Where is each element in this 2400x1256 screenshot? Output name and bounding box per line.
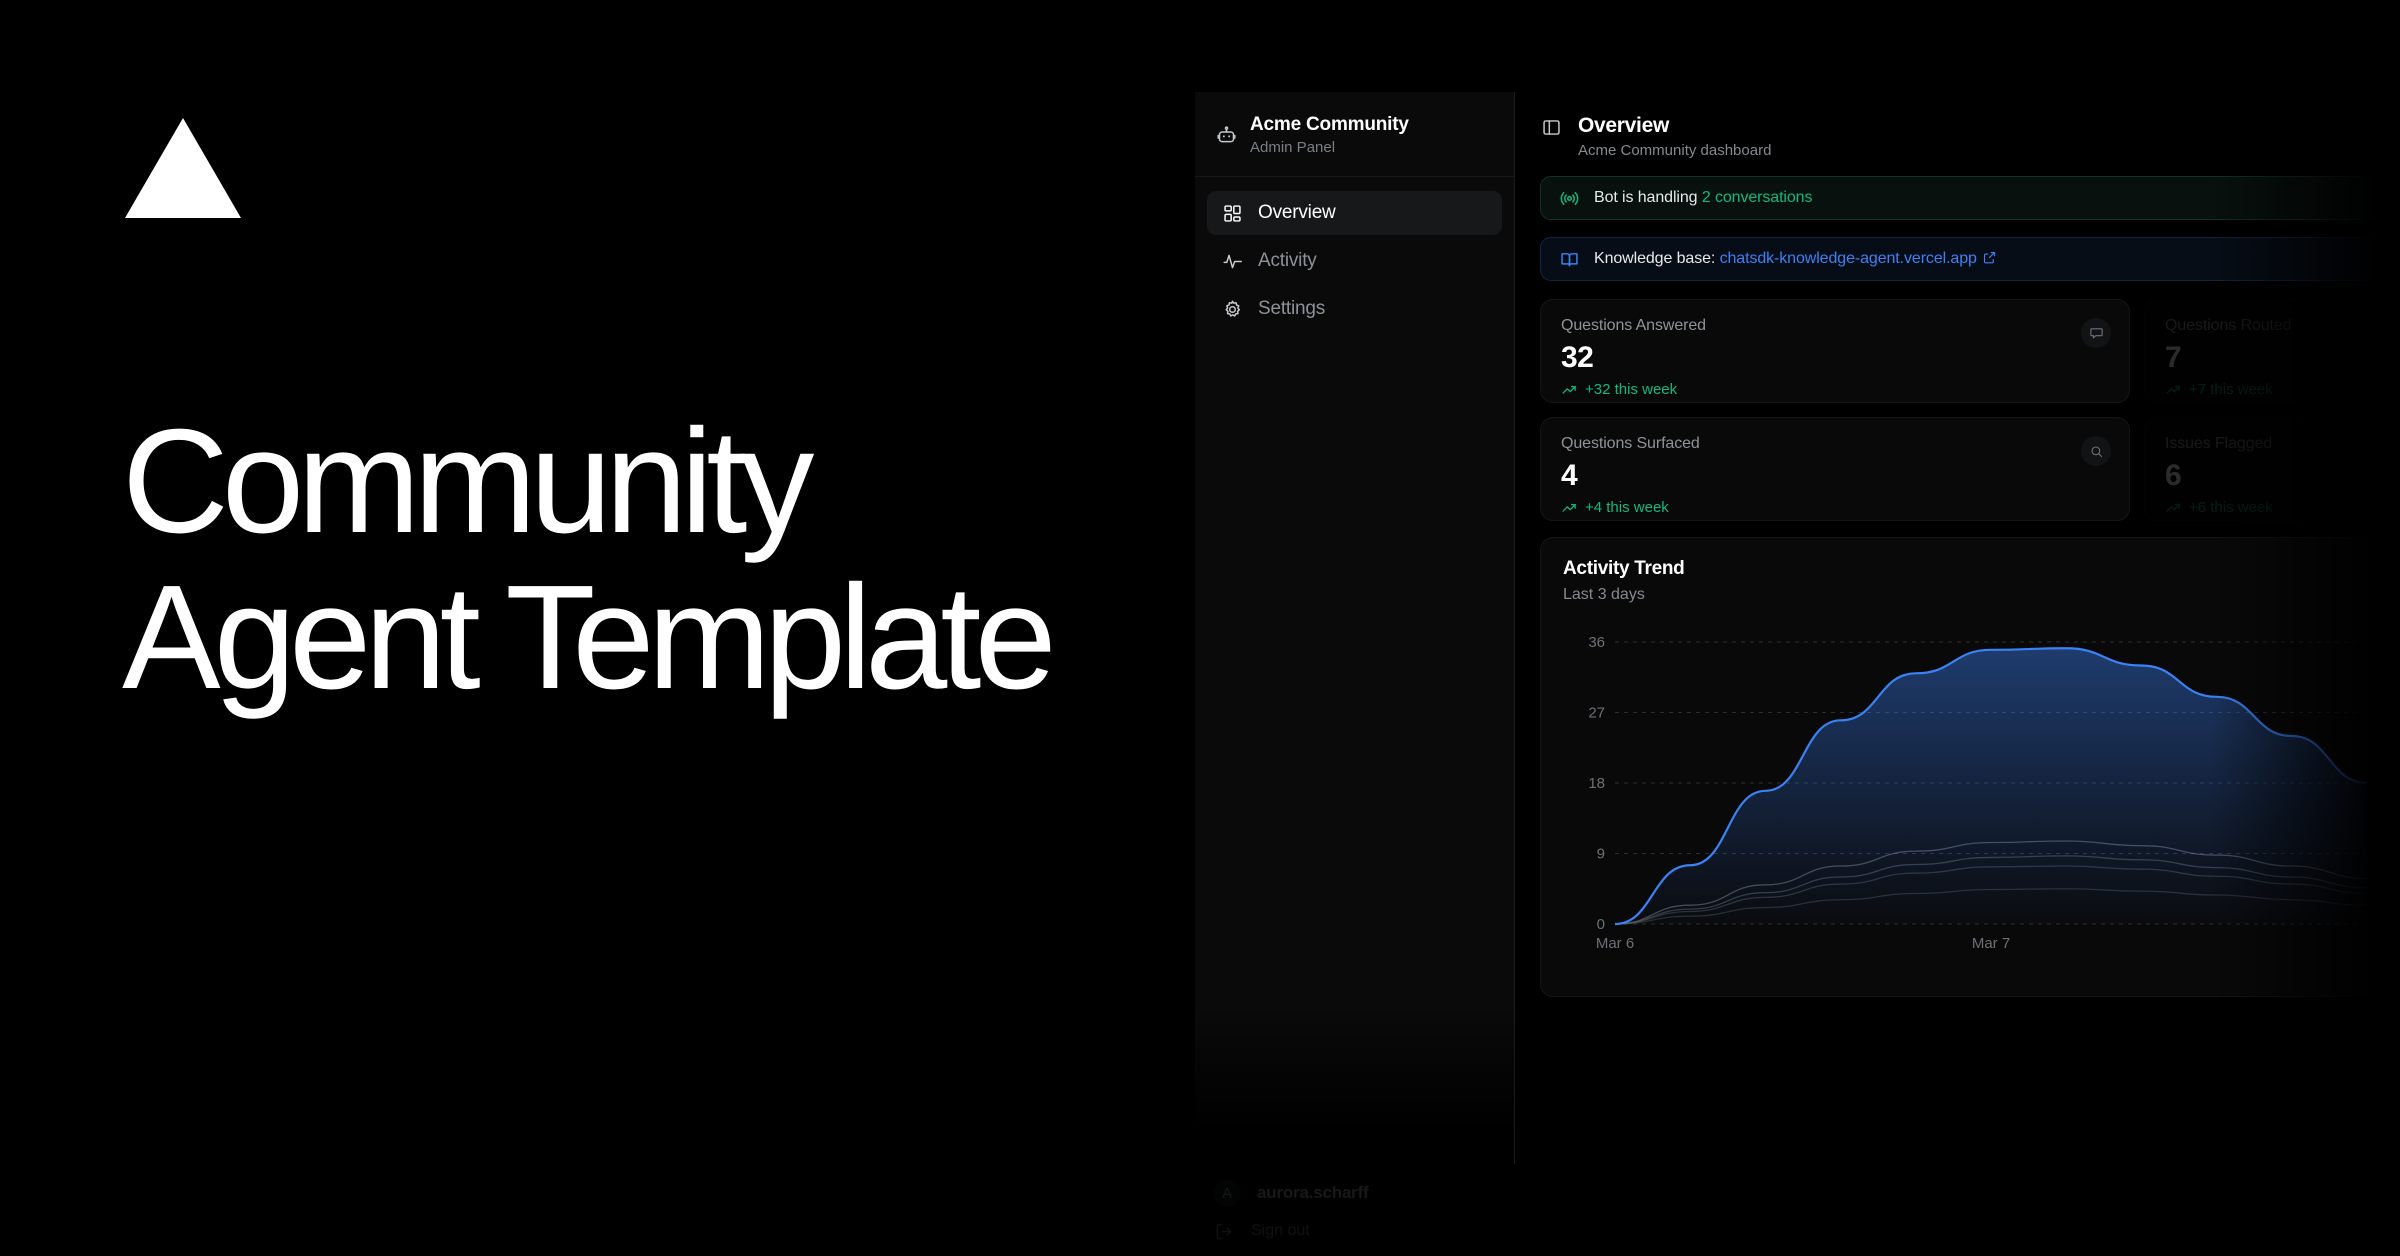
sidebar-brand-subtitle: Admin Panel	[1250, 139, 1409, 156]
main-header: Overview Acme Community dashboard	[1540, 114, 2400, 159]
app-window: Acme Community Admin Panel Overview Acti…	[1195, 92, 2400, 1256]
sidebar-item-activity[interactable]: Activity	[1207, 239, 1502, 283]
svg-text:27: 27	[1588, 705, 1605, 722]
stat-label: Questions Surfaced	[1561, 435, 2109, 453]
sidebar-nav: Overview Activity Settings	[1195, 177, 1514, 331]
stat-delta-label: +7 this week	[2189, 381, 2273, 398]
chart-title: Activity Trend	[1563, 558, 2357, 580]
main-subtitle: Acme Community dashboard	[1578, 142, 1771, 159]
bot-status-count: 2 conversations	[1702, 189, 1813, 206]
stat-delta-label: +4 this week	[1585, 499, 1669, 516]
stat-value: 32	[1561, 341, 2109, 375]
grid-icon	[1221, 202, 1243, 224]
svg-text:18: 18	[1588, 775, 1605, 792]
stat-delta: +4 this week	[1561, 499, 2109, 516]
trending-up-icon	[2165, 381, 2182, 398]
stat-label: Questions Routed	[2165, 317, 2400, 335]
stat-delta: +6 this week	[2165, 499, 2400, 516]
stat-card-questions-answered: Questions Answered 32 +32 this week	[1540, 299, 2130, 403]
svg-text:0: 0	[1597, 916, 1605, 933]
stat-label: Questions Answered	[1561, 317, 2109, 335]
activity-trend-card: Activity Trend Last 3 days 09182736Mar 6…	[1540, 537, 2380, 997]
activity-pulse-icon	[1221, 250, 1243, 272]
sign-out-label: Sign out	[1251, 1222, 1310, 1240]
search-icon	[2081, 436, 2111, 466]
page-title: Community Agent Template	[122, 408, 1182, 712]
sidebar-brand: Acme Community Admin Panel	[1195, 92, 1514, 177]
trending-up-icon	[1561, 499, 1578, 516]
hero-title-line-2: Agent Template	[122, 564, 1182, 712]
sidebar-user-row[interactable]: A aurora.scharff	[1213, 1179, 1497, 1207]
main-content: Overview Acme Community dashboard Bot is…	[1516, 92, 2400, 1256]
knowledge-base-link[interactable]: chatsdk-knowledge-agent.vercel.app	[1720, 250, 1977, 267]
stat-delta: +32 this week	[1561, 381, 2109, 398]
sidebar-item-settings-label: Settings	[1258, 298, 1325, 320]
stat-delta: +7 this week	[2165, 381, 2400, 398]
sidebar-item-activity-label: Activity	[1258, 250, 1317, 272]
stat-label: Issues Flagged	[2165, 435, 2400, 453]
bot-icon	[1215, 124, 1237, 146]
stat-value: 4	[1561, 459, 2109, 493]
sidebar-item-overview[interactable]: Overview	[1207, 191, 1502, 235]
main-title: Overview	[1578, 114, 1771, 138]
stat-card-questions-routed: Questions Routed 7 +7 this week	[2144, 299, 2400, 403]
chart-subtitle: Last 3 days	[1563, 586, 2357, 604]
sidebar-item-settings[interactable]: Settings	[1207, 287, 1502, 331]
broadcast-icon	[1558, 187, 1580, 209]
stat-value: 6	[2165, 459, 2400, 493]
vercel-triangle-logo-icon	[125, 118, 241, 218]
bot-status-text: Bot is handling 2 conversations	[1594, 189, 1812, 207]
gear-icon	[1221, 298, 1243, 320]
stat-card-questions-surfaced: Questions Surfaced 4 +4 this week	[1540, 417, 2130, 521]
knowledge-base-text: Knowledge base: chatsdk-knowledge-agent.…	[1594, 250, 1997, 268]
svg-text:36: 36	[1588, 634, 1605, 651]
stat-delta-label: +32 this week	[1585, 381, 1677, 398]
sign-out-button[interactable]: Sign out	[1213, 1220, 1497, 1242]
activity-trend-chart: 09182736Mar 6Mar 7	[1563, 634, 2373, 964]
sidebar-user-footer: A aurora.scharff Sign out	[1195, 1164, 1515, 1256]
svg-text:Mar 7: Mar 7	[1972, 935, 2010, 952]
sidebar-item-overview-label: Overview	[1258, 202, 1336, 224]
sidebar-brand-name: Acme Community	[1250, 114, 1409, 136]
bot-status-prefix: Bot is handling	[1594, 189, 1702, 206]
panel-left-icon[interactable]	[1540, 116, 1562, 138]
external-link-icon[interactable]	[1982, 250, 1997, 265]
bot-status-banner: Bot is handling 2 conversations	[1540, 176, 2380, 220]
stats-grid: Questions Answered 32 +32 this week Ques…	[1540, 299, 2400, 521]
svg-text:9: 9	[1597, 846, 1605, 863]
hero-title-line-1: Community	[122, 408, 1182, 556]
svg-text:Mar 6: Mar 6	[1596, 935, 1634, 952]
trending-up-icon	[1561, 381, 1578, 398]
stat-delta-label: +6 this week	[2189, 499, 2273, 516]
book-open-icon	[1558, 248, 1580, 270]
stat-value: 7	[2165, 341, 2400, 375]
avatar: A	[1213, 1179, 1241, 1207]
knowledge-base-prefix: Knowledge base:	[1594, 250, 1720, 267]
trending-up-icon	[2165, 499, 2182, 516]
sidebar: Acme Community Admin Panel Overview Acti…	[1195, 92, 1515, 1164]
knowledge-base-banner: Knowledge base: chatsdk-knowledge-agent.…	[1540, 237, 2380, 281]
hero-panel: Community Agent Template	[0, 0, 1195, 1256]
logout-icon	[1213, 1220, 1235, 1242]
stat-card-issues-flagged: Issues Flagged 6 +6 this week	[2144, 417, 2400, 521]
sidebar-user-name: aurora.scharff	[1257, 1183, 1369, 1203]
message-square-icon	[2081, 318, 2111, 348]
